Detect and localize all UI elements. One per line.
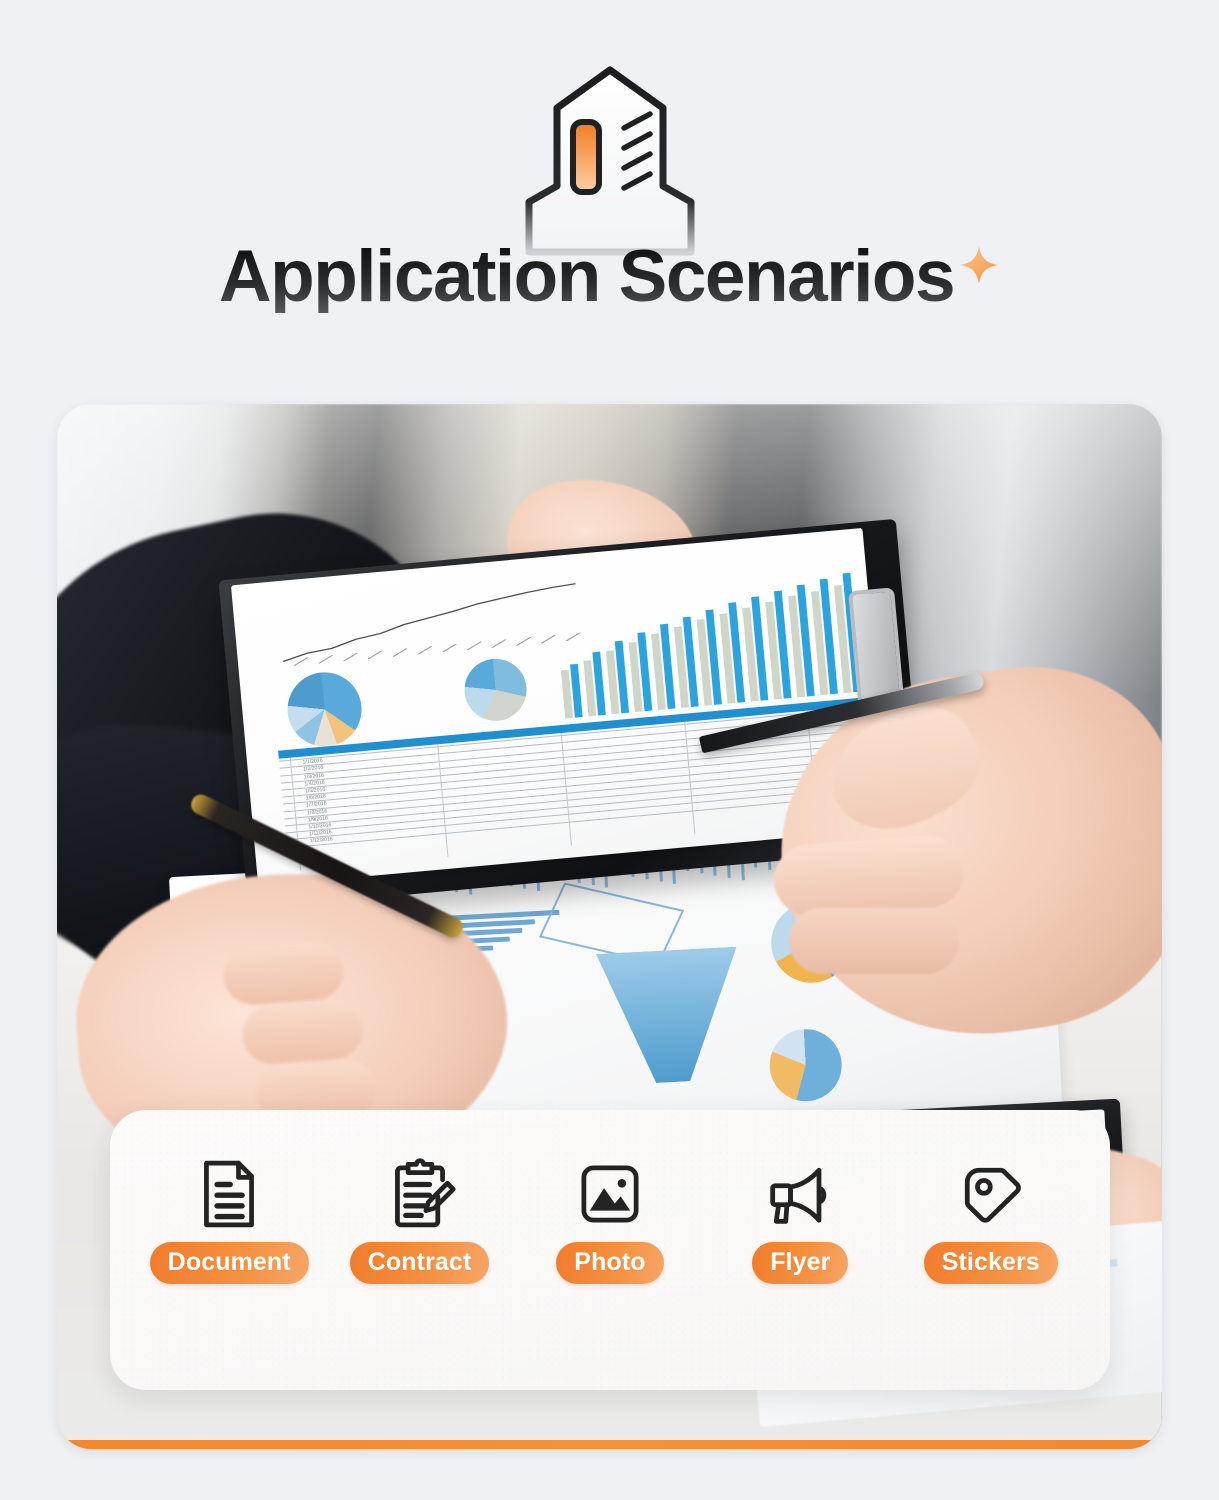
table-row (281, 729, 868, 783)
funnel-chart (596, 947, 744, 1086)
page-title: Application Scenarios (219, 240, 954, 313)
page-header: Application Scenarios (0, 0, 1219, 390)
building-skyscraper-icon (495, 62, 725, 257)
finger-middle-right (789, 908, 959, 974)
scenario-item-contract[interactable]: Contract (334, 1156, 506, 1284)
scenario-label-stickers: Stickers (924, 1242, 1058, 1284)
scenario-item-document[interactable]: Document (143, 1156, 315, 1284)
scenario-label-flyer: Flyer (752, 1242, 848, 1284)
image-icon (572, 1156, 648, 1232)
scenario-item-stickers[interactable]: Stickers (905, 1156, 1077, 1284)
knuckle-1 (222, 940, 346, 1006)
table-row (284, 765, 871, 819)
scenario-label-document: Document (150, 1242, 309, 1284)
scenario-label-photo: Photo (556, 1242, 663, 1284)
table-row (283, 750, 870, 804)
document-icon (191, 1156, 267, 1232)
pie-chart-small-2 (767, 1027, 843, 1103)
pie-chart-left (284, 669, 364, 749)
finger-index-right (772, 833, 967, 918)
scenario-item-flyer[interactable]: Flyer (714, 1156, 886, 1284)
knuckle-2 (241, 999, 365, 1065)
sparkle-star-icon (958, 244, 1000, 286)
page-title-row: Application Scenarios (0, 240, 1219, 313)
table-row (282, 743, 869, 797)
megaphone-icon (762, 1156, 838, 1232)
pie-chart-right (461, 656, 528, 723)
table-row (285, 772, 872, 826)
table-row (283, 758, 870, 812)
vertical-bar-chart (550, 565, 871, 719)
application-scenarios-card: Document Contract (110, 1110, 1110, 1390)
clipboard-pen-icon (382, 1156, 458, 1232)
scenario-item-photo[interactable]: Photo (524, 1156, 696, 1284)
price-tag-icon (953, 1156, 1029, 1232)
scenario-label-contract: Contract (350, 1242, 490, 1284)
scenario-list: Document Contract (110, 1156, 1110, 1284)
